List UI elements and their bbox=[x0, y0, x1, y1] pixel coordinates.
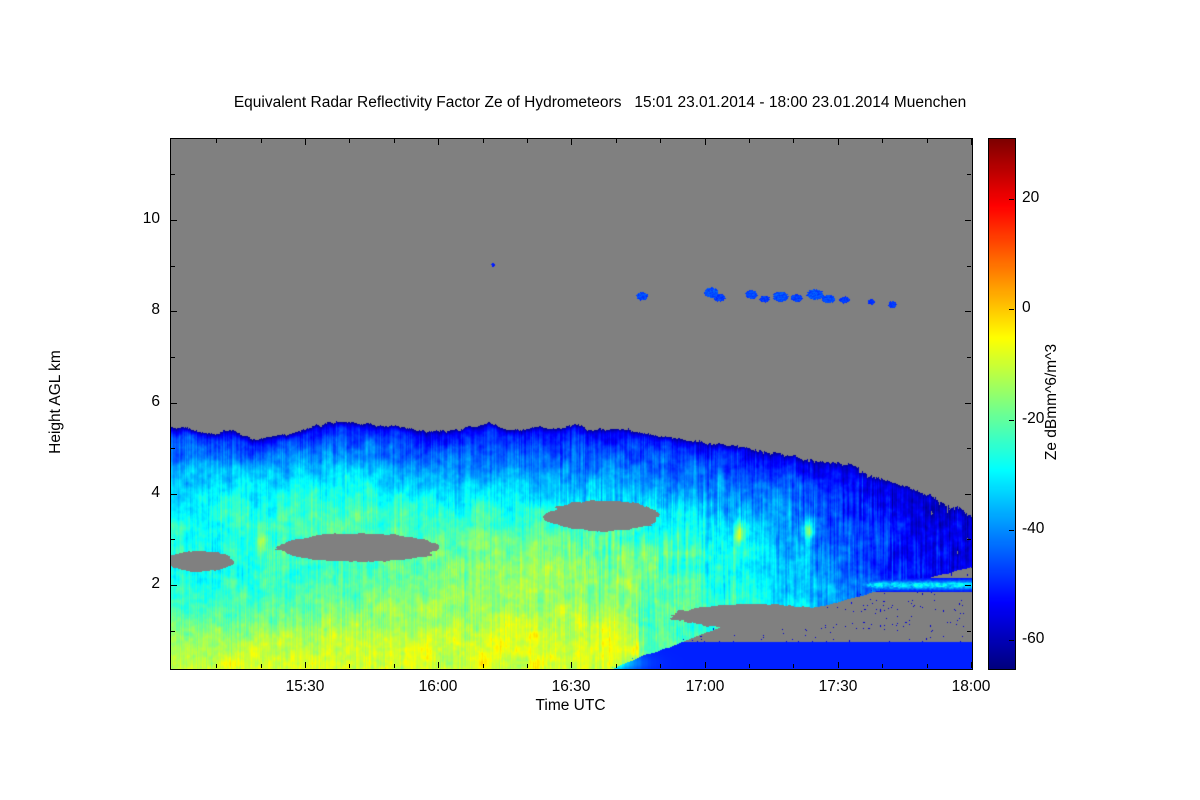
x-tick-minor bbox=[216, 664, 217, 668]
x-tick-label: 18:00 bbox=[931, 678, 1011, 696]
colorbar-tick bbox=[1009, 420, 1014, 421]
x-tick-major-top bbox=[438, 139, 439, 145]
y-axis-title: Height AGL km bbox=[47, 302, 65, 502]
colorbar-tick bbox=[1009, 199, 1014, 200]
x-tick-major-top bbox=[571, 139, 572, 145]
y-tick-minor-right bbox=[967, 448, 971, 449]
x-tick-minor-top bbox=[793, 139, 794, 143]
y-tick-major bbox=[171, 585, 177, 586]
x-tick-major-top bbox=[971, 139, 972, 145]
y-tick-major bbox=[171, 403, 177, 404]
x-axis-title: Time UTC bbox=[170, 697, 971, 715]
y-tick-major bbox=[171, 494, 177, 495]
colorbar-tick-label: -40 bbox=[1022, 520, 1044, 538]
x-tick-label: 16:30 bbox=[531, 678, 611, 696]
x-tick-label: 15:30 bbox=[265, 678, 345, 696]
y-tick-label: 4 bbox=[100, 484, 160, 502]
x-tick-minor-top bbox=[660, 139, 661, 143]
x-tick-minor bbox=[927, 664, 928, 668]
y-tick-minor bbox=[171, 631, 175, 632]
x-tick-major-top bbox=[305, 139, 306, 145]
x-tick-major bbox=[305, 662, 306, 668]
colorbar-tick bbox=[1009, 309, 1014, 310]
figure-title: Equivalent Radar Reflectivity Factor Ze … bbox=[0, 94, 1200, 112]
x-tick-minor-top bbox=[882, 139, 883, 143]
y-tick-major-right bbox=[965, 494, 971, 495]
colorbar-tick bbox=[1009, 530, 1014, 531]
colorbar-tick-label: 0 bbox=[1022, 299, 1031, 317]
y-tick-major bbox=[171, 311, 177, 312]
x-tick-major-top bbox=[705, 139, 706, 145]
x-tick-minor-top bbox=[927, 139, 928, 143]
y-tick-label: 2 bbox=[100, 575, 160, 593]
y-tick-minor-right bbox=[967, 357, 971, 358]
x-tick-major bbox=[971, 662, 972, 668]
y-tick-minor-right bbox=[967, 631, 971, 632]
radar-figure: Equivalent Radar Reflectivity Factor Ze … bbox=[0, 0, 1200, 800]
x-tick-label: 17:00 bbox=[665, 678, 745, 696]
x-tick-minor-top bbox=[527, 139, 528, 143]
x-tick-minor bbox=[261, 664, 262, 668]
x-tick-minor bbox=[394, 664, 395, 668]
x-tick-major bbox=[438, 662, 439, 668]
plot-area bbox=[170, 138, 973, 670]
x-tick-minor bbox=[660, 664, 661, 668]
y-tick-minor-right bbox=[967, 266, 971, 267]
colorbar bbox=[988, 138, 1016, 670]
y-tick-major-right bbox=[965, 403, 971, 404]
y-tick-major-right bbox=[965, 585, 971, 586]
y-tick-label: 6 bbox=[100, 393, 160, 411]
x-tick-minor bbox=[793, 664, 794, 668]
x-tick-minor bbox=[882, 664, 883, 668]
x-tick-major bbox=[571, 662, 572, 668]
x-tick-minor-top bbox=[616, 139, 617, 143]
x-tick-major-top bbox=[838, 139, 839, 145]
x-tick-minor-top bbox=[349, 139, 350, 143]
colorbar-tick-label: -20 bbox=[1022, 410, 1044, 428]
x-tick-major bbox=[705, 662, 706, 668]
x-tick-minor bbox=[527, 664, 528, 668]
x-tick-minor-top bbox=[749, 139, 750, 143]
y-tick-minor bbox=[171, 448, 175, 449]
y-tick-major-right bbox=[965, 311, 971, 312]
y-tick-minor bbox=[171, 357, 175, 358]
y-tick-major-right bbox=[965, 220, 971, 221]
colorbar-tick-label: -60 bbox=[1022, 630, 1044, 648]
colorbar-gradient bbox=[989, 139, 1015, 669]
radar-reflectivity-heatmap bbox=[171, 139, 972, 669]
x-tick-minor-top bbox=[261, 139, 262, 143]
y-tick-minor bbox=[171, 266, 175, 267]
y-tick-minor bbox=[171, 539, 175, 540]
x-tick-minor bbox=[616, 664, 617, 668]
x-tick-major bbox=[838, 662, 839, 668]
colorbar-tick bbox=[1009, 640, 1014, 641]
y-tick-label: 8 bbox=[100, 301, 160, 319]
x-tick-label: 16:00 bbox=[398, 678, 478, 696]
y-tick-minor-right bbox=[967, 174, 971, 175]
y-tick-minor-right bbox=[967, 539, 971, 540]
colorbar-tick-label: 20 bbox=[1022, 189, 1039, 207]
x-tick-minor bbox=[749, 664, 750, 668]
x-tick-label: 17:30 bbox=[798, 678, 878, 696]
y-tick-minor bbox=[171, 174, 175, 175]
x-tick-minor-top bbox=[216, 139, 217, 143]
y-tick-label: 10 bbox=[100, 210, 160, 228]
x-tick-minor bbox=[483, 664, 484, 668]
x-tick-minor-top bbox=[394, 139, 395, 143]
y-tick-major bbox=[171, 220, 177, 221]
x-tick-minor-top bbox=[483, 139, 484, 143]
x-tick-minor bbox=[349, 664, 350, 668]
colorbar-title: Ze dBmm^6/m^3 bbox=[1043, 272, 1061, 532]
